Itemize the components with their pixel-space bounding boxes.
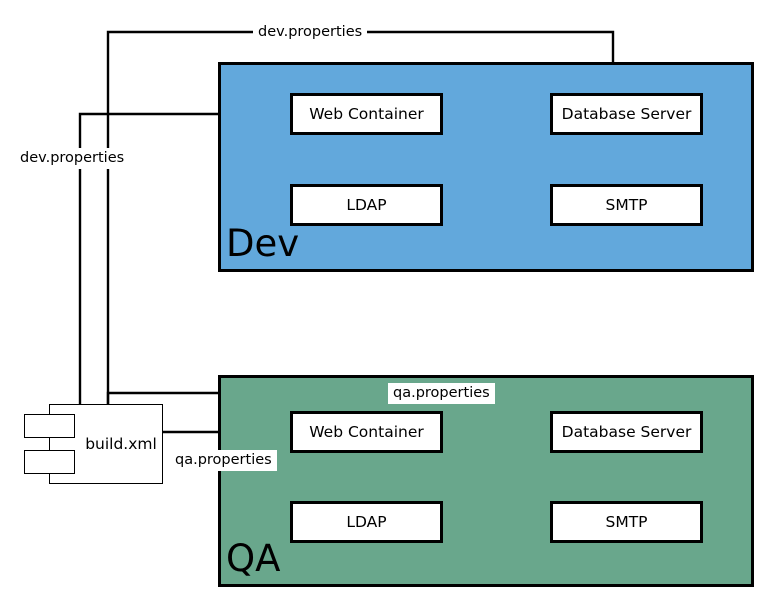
service-box-qa-web-container[interactable]: Web Container xyxy=(290,411,443,453)
service-label: Database Server xyxy=(562,105,692,123)
component-tab-upper-icon xyxy=(24,414,75,438)
deployment-diagram: Web Container Database Server LDAP SMTP … xyxy=(0,0,778,615)
service-box-dev-ldap[interactable]: LDAP xyxy=(290,184,443,226)
wire-label-qa-properties-left: qa.properties xyxy=(170,450,277,471)
service-label: Database Server xyxy=(562,423,692,441)
service-box-qa-ldap[interactable]: LDAP xyxy=(290,501,443,543)
service-label: SMTP xyxy=(605,513,647,531)
service-label: Web Container xyxy=(309,423,423,441)
service-label: Web Container xyxy=(309,105,423,123)
service-label: SMTP xyxy=(605,196,647,214)
wire-label-dev-properties-top: dev.properties xyxy=(253,22,367,43)
environment-panel-qa[interactable] xyxy=(218,375,754,587)
component-tab-lower-icon xyxy=(24,450,75,474)
service-label: LDAP xyxy=(346,196,386,214)
environment-title-qa: QA xyxy=(226,540,280,577)
service-box-qa-database-server[interactable]: Database Server xyxy=(550,411,703,453)
environment-title-dev: Dev xyxy=(226,225,299,262)
wire-label-dev-properties-left: dev.properties xyxy=(15,148,129,169)
service-label: LDAP xyxy=(346,513,386,531)
wire-label-qa-properties-top: qa.properties xyxy=(388,383,495,404)
service-box-dev-database-server[interactable]: Database Server xyxy=(550,93,703,135)
service-box-dev-web-container[interactable]: Web Container xyxy=(290,93,443,135)
service-box-dev-smtp[interactable]: SMTP xyxy=(550,184,703,226)
service-box-qa-smtp[interactable]: SMTP xyxy=(550,501,703,543)
